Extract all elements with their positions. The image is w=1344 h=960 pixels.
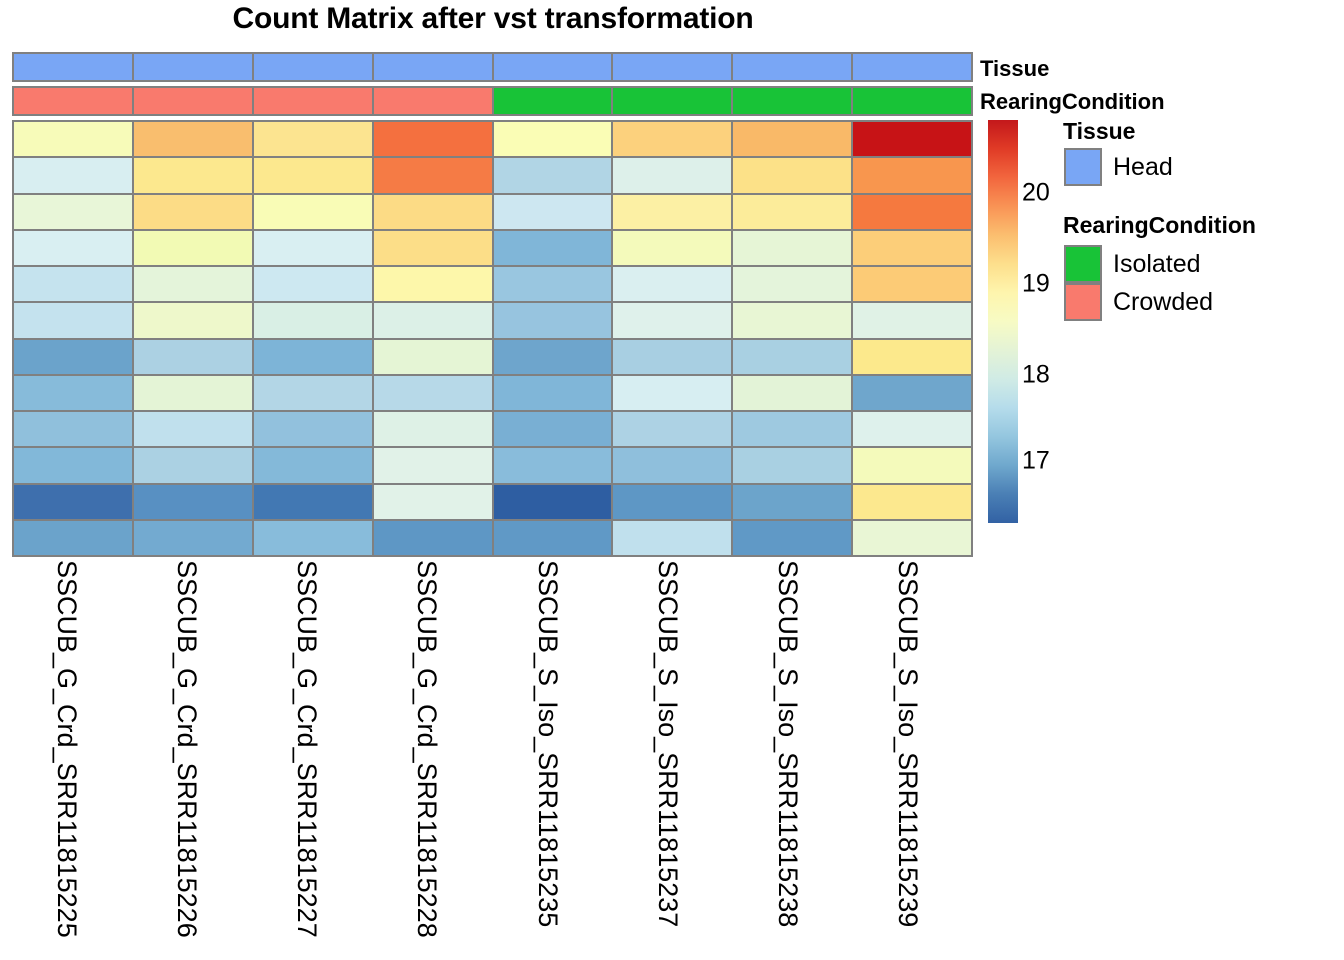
heatmap-cell — [733, 448, 853, 482]
heatmap-cell — [733, 340, 853, 374]
heatmap-cell — [134, 267, 254, 301]
annotation-cell — [374, 88, 494, 114]
heatmap-cell — [853, 521, 971, 555]
column-label: SSCUB_S_Iso_SRR11815237 — [652, 560, 683, 927]
heatmap-cell — [14, 231, 134, 265]
column-label-slot: SSCUB_G_Crd_SRR11815228 — [372, 560, 492, 955]
heatmap-cell — [494, 303, 614, 337]
heatmap-cell — [613, 448, 733, 482]
legend-swatch-crowded — [1064, 283, 1102, 321]
legend-swatch-isolated — [1064, 245, 1102, 283]
legend-label-isolated: Isolated — [1113, 250, 1201, 279]
heatmap-row — [14, 158, 971, 194]
annotation-cell — [254, 54, 374, 80]
column-label-slot: SSCUB_G_Crd_SRR11815226 — [132, 560, 252, 955]
page-title: Count Matrix after vst transformation — [0, 2, 986, 36]
heatmap-cell — [733, 412, 853, 446]
legend-title-rearingcondition: RearingCondition — [1063, 212, 1256, 239]
heatmap-cell — [494, 340, 614, 374]
heatmap-cell — [134, 448, 254, 482]
heatmap-row — [14, 448, 971, 484]
heatmap-cell — [494, 158, 614, 192]
heatmap-cell — [374, 340, 494, 374]
heatmap-cell — [134, 376, 254, 410]
heatmap-cell — [374, 448, 494, 482]
heatmap-cell — [494, 412, 614, 446]
heatmap-cell — [14, 267, 134, 301]
heatmap-row — [14, 195, 971, 231]
heatmap-row — [14, 303, 971, 339]
heatmap-cell — [134, 303, 254, 337]
heatmap-cell — [613, 122, 733, 156]
heatmap-cell — [853, 485, 971, 519]
heatmap-cell — [853, 122, 971, 156]
column-label: SSCUB_S_Iso_SRR11815239 — [892, 560, 923, 927]
colorbar-tick-label: 20 — [1022, 179, 1050, 208]
heatmap-cell — [254, 122, 374, 156]
annotation-cell — [853, 88, 971, 114]
heatmap-cell — [254, 195, 374, 229]
heatmap-cell — [374, 521, 494, 555]
heatmap-cell — [134, 231, 254, 265]
heatmap-row — [14, 340, 971, 376]
heatmap-cell — [494, 485, 614, 519]
heatmap-cell — [494, 195, 614, 229]
heatmap-cell — [254, 231, 374, 265]
annotation-row-rearingcondition — [12, 86, 973, 116]
annotation-cell — [733, 54, 853, 80]
heatmap-cell — [374, 303, 494, 337]
colorbar-tick-label: 19 — [1022, 270, 1050, 299]
annotation-cell — [733, 88, 853, 114]
heatmap-cell — [374, 158, 494, 192]
heatmap-cell — [733, 195, 853, 229]
heatmap-cell — [374, 376, 494, 410]
heatmap-row — [14, 231, 971, 267]
heatmap-cell — [14, 485, 134, 519]
column-label: SSCUB_S_Iso_SRR11815238 — [772, 560, 803, 927]
column-label-slot: SSCUB_S_Iso_SRR11815237 — [613, 560, 733, 955]
heatmap-plot: Count Matrix after vst transformation Ti… — [0, 0, 1344, 960]
heatmap-cell — [254, 485, 374, 519]
annotation-cell — [254, 88, 374, 114]
heatmap-cell — [613, 340, 733, 374]
annotation-cell — [494, 88, 614, 114]
annotation-label-rearingcondition: RearingCondition — [980, 89, 1165, 115]
heatmap-cell — [374, 195, 494, 229]
heatmap-cell — [134, 412, 254, 446]
heatmap-cell — [733, 485, 853, 519]
heatmap-cell — [494, 231, 614, 265]
heatmap-cell — [853, 340, 971, 374]
heatmap-cell — [733, 231, 853, 265]
heatmap-cell — [14, 303, 134, 337]
heatmap-cell — [14, 340, 134, 374]
heatmap-cell — [733, 267, 853, 301]
annotation-cell — [613, 88, 733, 114]
heatmap-cell — [613, 231, 733, 265]
heatmap-cell — [613, 485, 733, 519]
heatmap-cell — [613, 303, 733, 337]
heatmap-cell — [374, 485, 494, 519]
heatmap-row — [14, 376, 971, 412]
heatmap-cell — [14, 122, 134, 156]
heatmap-cell — [254, 376, 374, 410]
heatmap-cell — [254, 521, 374, 555]
heatmap-row — [14, 485, 971, 521]
annotation-cell — [374, 54, 494, 80]
heatmap-cell — [494, 267, 614, 301]
colorbar-tick-label: 17 — [1022, 447, 1050, 476]
heatmap-cell — [134, 195, 254, 229]
annotation-label-tissue: Tissue — [980, 56, 1049, 82]
column-label-slot: SSCUB_G_Crd_SRR11815225 — [12, 560, 132, 955]
legend-label-head: Head — [1113, 153, 1173, 182]
column-label: SSCUB_G_Crd_SRR11815226 — [171, 560, 202, 938]
heatmap-cell — [14, 412, 134, 446]
heatmap-cell — [853, 448, 971, 482]
heatmap-cell — [134, 122, 254, 156]
heatmap-cell — [733, 376, 853, 410]
heatmap-cell — [613, 376, 733, 410]
column-label-slot: SSCUB_G_Crd_SRR11815227 — [252, 560, 372, 955]
heatmap-cell — [613, 158, 733, 192]
heatmap-cell — [494, 521, 614, 555]
heatmap-cell — [613, 267, 733, 301]
heatmap-cell — [853, 267, 971, 301]
heatmap-cell — [494, 448, 614, 482]
heatmap-cell — [254, 267, 374, 301]
heatmap-cell — [853, 412, 971, 446]
heatmap-cell — [134, 485, 254, 519]
heatmap-cell — [254, 448, 374, 482]
heatmap-row — [14, 521, 971, 555]
heatmap-cell — [254, 158, 374, 192]
heatmap-cell — [374, 231, 494, 265]
heatmap-cell — [853, 376, 971, 410]
heatmap-cell — [853, 158, 971, 192]
heatmap-cell — [494, 122, 614, 156]
column-label-slot: SSCUB_S_Iso_SRR11815235 — [493, 560, 613, 955]
annotation-row-tissue — [12, 52, 973, 82]
heatmap-cell — [853, 231, 971, 265]
legend-swatch-head — [1064, 148, 1102, 186]
annotation-cell — [14, 54, 134, 80]
heatmap-cell — [14, 195, 134, 229]
column-label: SSCUB_S_Iso_SRR11815235 — [532, 560, 563, 927]
heatmap-cell — [613, 195, 733, 229]
heatmap-cell — [733, 158, 853, 192]
annotation-cell — [494, 54, 614, 80]
heatmap-cell — [374, 412, 494, 446]
colorbar-tick-label: 18 — [1022, 361, 1050, 390]
heatmap-cell — [733, 303, 853, 337]
annotation-cell — [613, 54, 733, 80]
heatmap-grid — [12, 120, 973, 557]
annotation-cell — [134, 88, 254, 114]
colorbar-gradient — [988, 120, 1018, 523]
heatmap-cell — [254, 303, 374, 337]
heatmap-cell — [613, 521, 733, 555]
heatmap-cell — [14, 376, 134, 410]
legend-label-crowded: Crowded — [1113, 288, 1213, 317]
heatmap-cell — [254, 412, 374, 446]
heatmap-cell — [733, 521, 853, 555]
heatmap-cell — [14, 448, 134, 482]
annotation-cell — [134, 54, 254, 80]
heatmap-row — [14, 412, 971, 448]
heatmap-row — [14, 267, 971, 303]
annotation-cell — [14, 88, 134, 114]
heatmap-cell — [14, 521, 134, 555]
annotation-cell — [853, 54, 971, 80]
heatmap-cell — [134, 158, 254, 192]
heatmap-cell — [14, 158, 134, 192]
heatmap-row — [14, 122, 971, 158]
heatmap-cell — [374, 122, 494, 156]
legend-title-tissue: Tissue — [1063, 118, 1135, 145]
heatmap-cell — [853, 195, 971, 229]
heatmap-cell — [134, 521, 254, 555]
column-labels: SSCUB_G_Crd_SRR11815225SSCUB_G_Crd_SRR11… — [12, 560, 973, 955]
heatmap-cell — [134, 340, 254, 374]
column-label: SSCUB_G_Crd_SRR11815225 — [51, 560, 82, 938]
colorbar — [988, 120, 1018, 523]
column-label: SSCUB_G_Crd_SRR11815228 — [411, 560, 442, 938]
column-label-slot: SSCUB_S_Iso_SRR11815238 — [733, 560, 853, 955]
heatmap-cell — [853, 303, 971, 337]
column-label: SSCUB_G_Crd_SRR11815227 — [291, 560, 322, 938]
heatmap-cell — [733, 122, 853, 156]
heatmap-cell — [613, 412, 733, 446]
column-label-slot: SSCUB_S_Iso_SRR11815239 — [853, 560, 973, 955]
heatmap-cell — [254, 340, 374, 374]
heatmap-cell — [494, 376, 614, 410]
heatmap-cell — [374, 267, 494, 301]
